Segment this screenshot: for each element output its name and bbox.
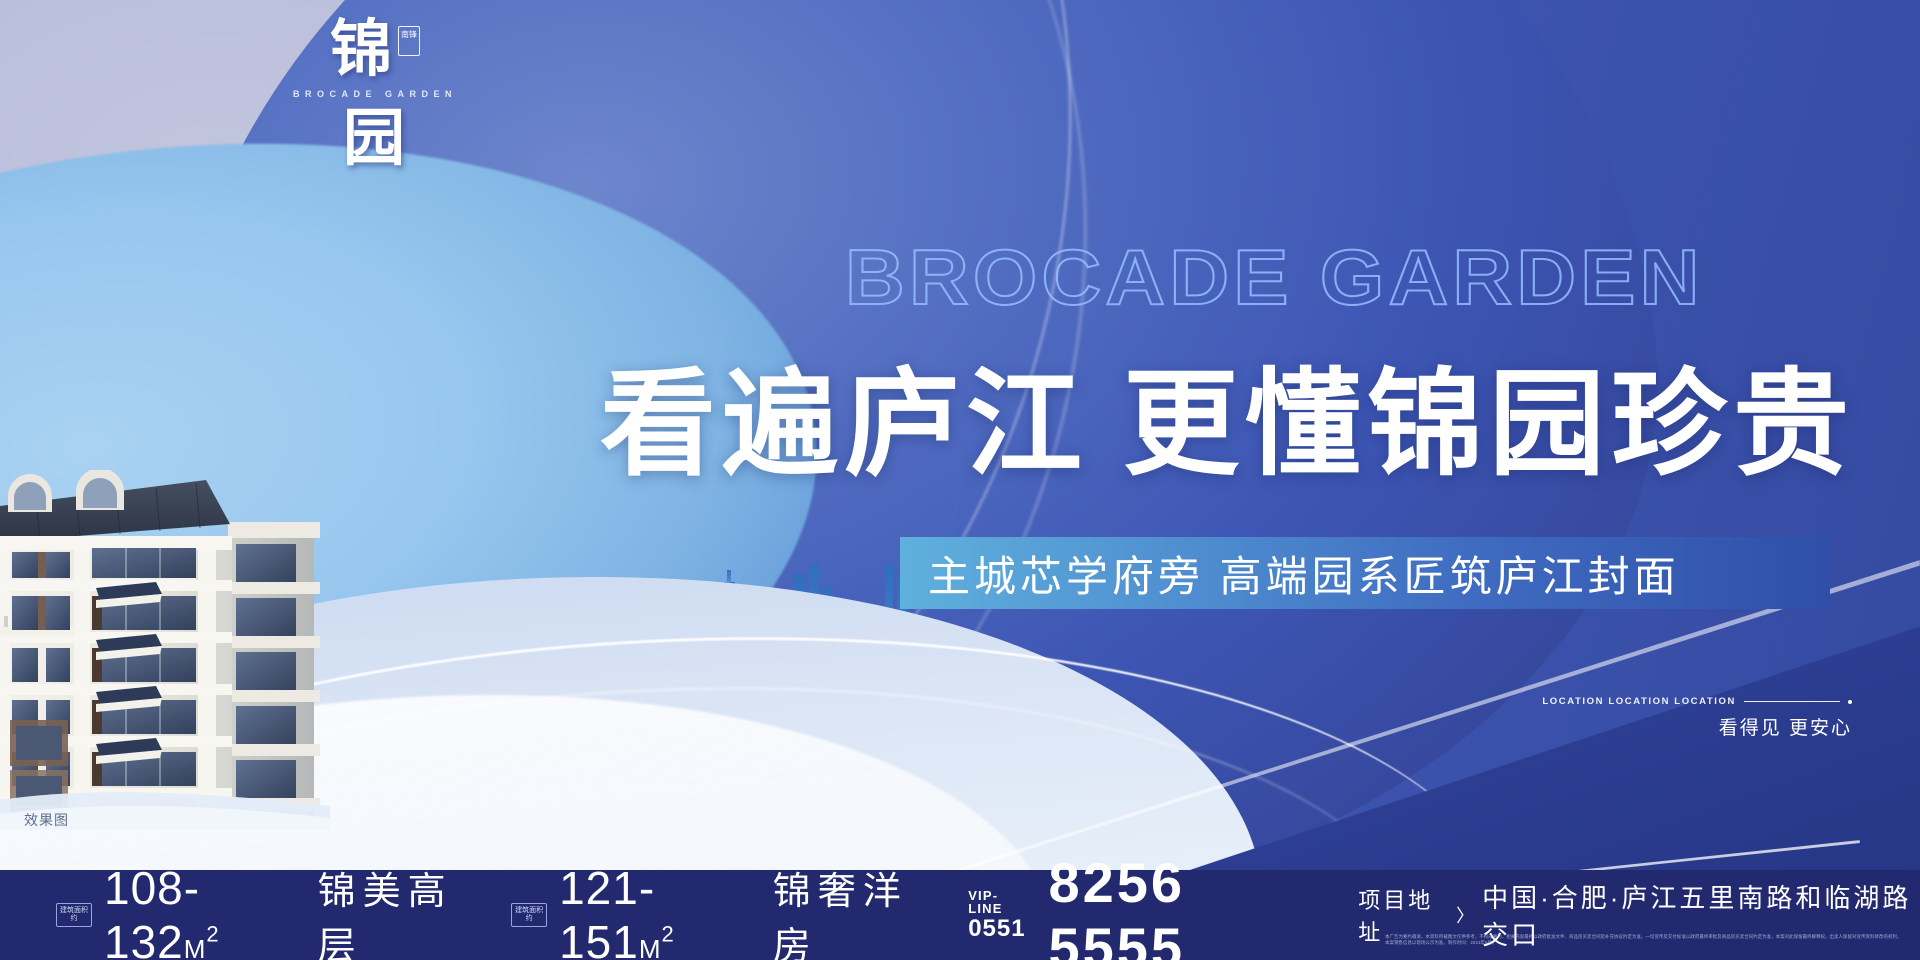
chevron-right-icon: 〉 [1456,902,1474,928]
area-badge-icon-2: 建筑面积约 [511,903,547,927]
location-chinese-tagline: 看得见 更安心 [1542,713,1852,740]
logo-seal-icon: 南锋 [398,26,420,56]
outline-headline-brocade-garden: BROCADE GARDEN [845,232,1704,323]
bottom-info-bar: 建筑面积约 108-132M2 锦美高层 建筑面积约 121-151M2 锦奢洋… [0,870,1920,960]
product-area-unit-2: M [639,934,662,960]
location-dot-icon [1848,700,1852,704]
vip-area-code: 0551 [968,916,1026,941]
vip-line-label: VIP-LINE [968,889,1026,916]
main-headline: 看遍庐江 更懂锦园珍贵 [600,330,1855,498]
product-area-unit-1: M [184,934,207,960]
rendering-disclaimer-note: 效果图 [24,810,69,830]
logo-char-top: 锦 [330,18,394,83]
product-area-2: 121-151M2 [559,861,747,960]
product-name-1: 锦美高层 [318,860,477,960]
phone-number[interactable]: 8256 5555 [1049,850,1313,960]
product-item-2: 建筑面积约 121-151M2 锦奢洋房 [511,860,932,960]
legal-disclaimer: 本广告为要约邀请，本资料所载图文仅供参考，不构成要约，相关内容最终以政府批准文件… [1385,934,1905,946]
location-rule-line [1744,701,1840,702]
logo-english-label: BROCADE GARDEN [290,89,460,99]
location-english-label: LOCATION LOCATION LOCATION [1542,696,1736,707]
vip-line-block[interactable]: VIP-LINE 0551 [968,889,1026,941]
brand-logo: 锦 南锋 BROCADE GARDEN 园 [290,18,460,172]
residential-building-render [0,470,330,830]
area-badge-icon-1: 建筑面积约 [56,903,92,927]
product-area-1: 108-132M2 [104,861,292,960]
logo-char-bottom: 园 [290,107,460,172]
product-area-sup-1: 2 [206,922,219,947]
product-item-1: 建筑面积约 108-132M2 锦美高层 [56,860,477,960]
product-name-2: 锦奢洋房 [773,860,932,960]
product-area-sup-2: 2 [662,922,675,947]
subtitle-bar: 主城芯学府旁 高端园系匠筑庐江封面 [900,537,1830,609]
subtitle-text: 主城芯学府旁 高端园系匠筑庐江封面 [900,543,1680,604]
location-tagline-block: LOCATION LOCATION LOCATION 看得见 更安心 [1542,696,1852,740]
poster-canvas: 锦 南锋 BROCADE GARDEN 园 BROCADE GARDEN 看遍庐… [0,0,1920,960]
